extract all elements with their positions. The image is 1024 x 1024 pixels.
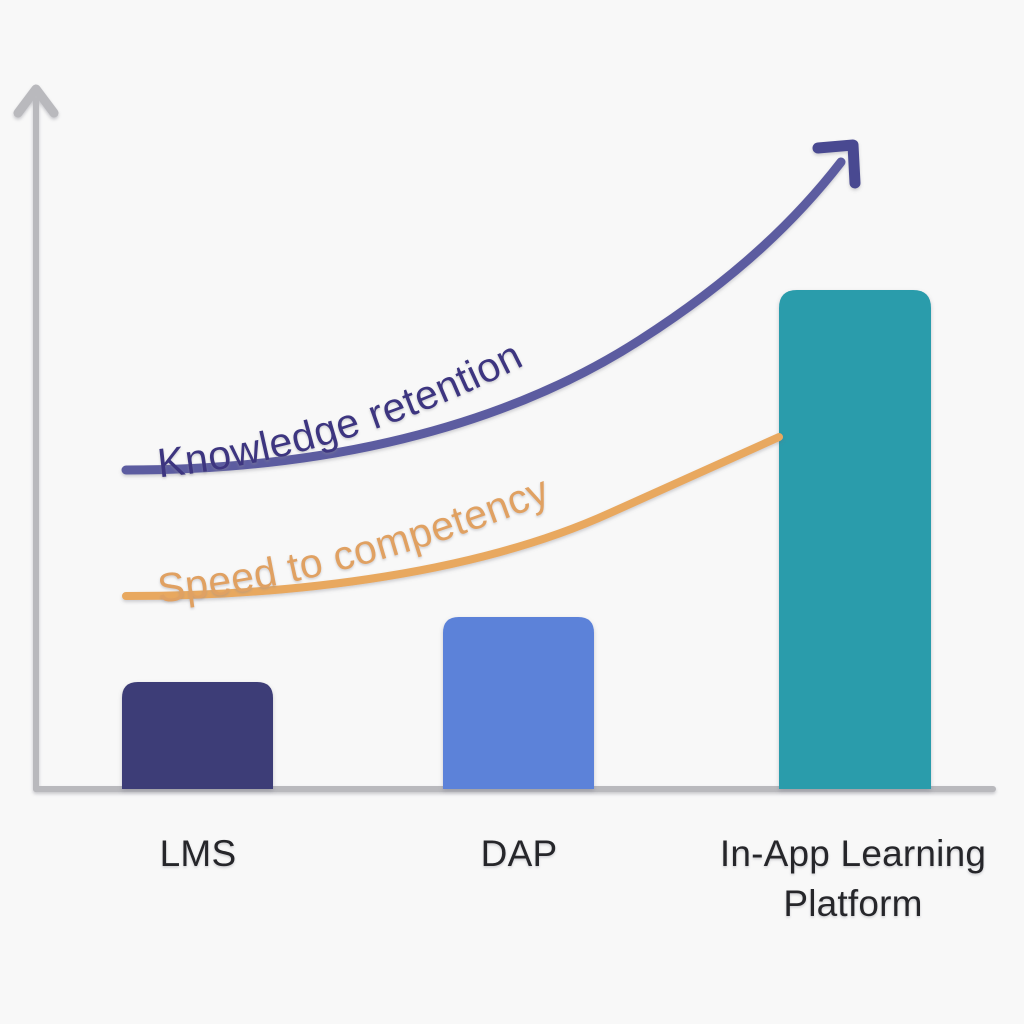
bar-lms[interactable]	[122, 682, 273, 789]
chart-canvas: Knowledge retention Speed to competency …	[0, 0, 1024, 1024]
category-label-in-app-line2: Platform	[783, 883, 922, 924]
bar-dap[interactable]	[443, 617, 594, 789]
category-label-lms: LMS	[160, 833, 237, 874]
category-label-in-app-line1: In-App Learning	[720, 833, 986, 874]
bar-chart-figure: Knowledge retention Speed to competency …	[0, 0, 1024, 1024]
bar-in-app-learning-platform[interactable]	[779, 290, 931, 789]
category-label-dap: DAP	[481, 833, 558, 874]
